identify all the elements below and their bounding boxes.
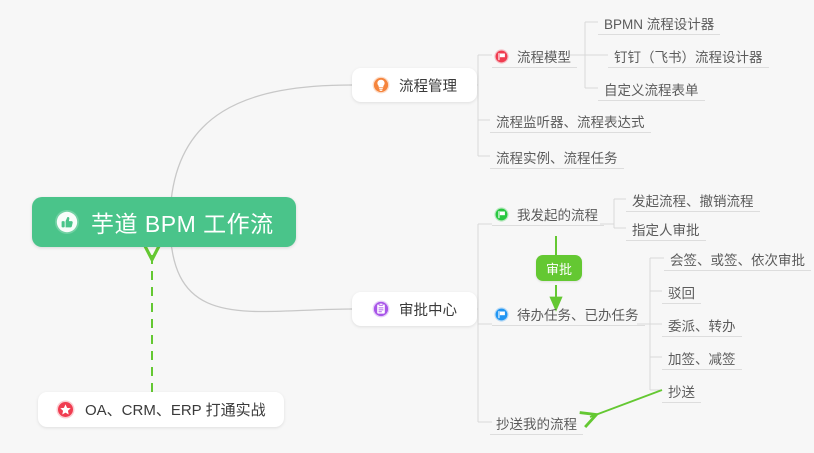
node-label: 待办任务、已办任务 (517, 309, 639, 323)
node-process-model[interactable]: 流程模型 (492, 42, 577, 68)
node-label: 自定义流程表单 (604, 84, 699, 98)
node-cc[interactable]: 抄送 (662, 377, 701, 403)
thumbs-up-icon (54, 209, 80, 235)
branch-approval-center[interactable]: 审批中心 (352, 292, 477, 326)
node-add-remove-sign[interactable]: 加签、减签 (662, 344, 742, 370)
node-label: 抄送 (668, 386, 695, 400)
star-icon (56, 400, 75, 419)
annotation-label: 审批 (546, 259, 572, 278)
node-label: 流程模型 (517, 51, 571, 65)
node-label: 钉钉（飞书）流程设计器 (614, 51, 763, 65)
node-dingtalk-feishu-designer[interactable]: 钉钉（飞书）流程设计器 (608, 42, 769, 68)
clipboard-icon (372, 300, 390, 318)
node-countersign-orsign-sequential[interactable]: 会签、或签、依次审批 (664, 245, 811, 271)
node-label: 我发起的流程 (517, 209, 598, 223)
node-label: BPMN 流程设计器 (604, 18, 714, 32)
branch-label: 审批中心 (399, 299, 457, 320)
node-todo-done-tasks[interactable]: 待办任务、已办任务 (492, 300, 645, 326)
node-label: 流程监听器、流程表达式 (496, 116, 645, 130)
node-delegate-transfer[interactable]: 委派、转办 (662, 311, 742, 337)
mindmap-canvas: 芋道 BPM 工作流 流程管理 流程模型 BPMN 流程设计器 (0, 0, 814, 453)
annotation-arrow-cc (590, 390, 662, 417)
node-label: 流程实例、流程任务 (496, 152, 618, 166)
node-my-initiated-process[interactable]: 我发起的流程 (492, 200, 604, 226)
branch-label: 流程管理 (399, 75, 457, 96)
flag-icon (494, 307, 509, 322)
node-label: 发起流程、撤销流程 (632, 195, 754, 209)
flag-icon (494, 49, 509, 64)
node-designated-approver[interactable]: 指定人审批 (626, 215, 706, 241)
branch-process-management[interactable]: 流程管理 (352, 68, 477, 102)
flag-icon (494, 207, 509, 222)
root-node[interactable]: 芋道 BPM 工作流 (32, 197, 296, 247)
node-label: 驳回 (668, 287, 695, 301)
node-label: 加签、减签 (668, 353, 736, 367)
node-label: 委派、转办 (668, 320, 736, 334)
node-process-listener-expression[interactable]: 流程监听器、流程表达式 (490, 107, 651, 133)
node-cc-to-me-process[interactable]: 抄送我的流程 (490, 409, 583, 435)
node-custom-process-form[interactable]: 自定义流程表单 (598, 75, 705, 101)
node-reject[interactable]: 驳回 (662, 278, 701, 304)
annotation-approval-pill: 审批 (536, 255, 582, 281)
node-label: 抄送我的流程 (496, 418, 577, 432)
root-label: 芋道 BPM 工作流 (91, 205, 274, 239)
node-label: OA、CRM、ERP 打通实战 (85, 399, 266, 420)
node-oa-crm-erp[interactable]: OA、CRM、ERP 打通实战 (38, 392, 284, 427)
node-label: 指定人审批 (632, 224, 700, 238)
node-process-instance-task[interactable]: 流程实例、流程任务 (490, 143, 624, 169)
lightbulb-icon (372, 76, 390, 94)
node-label: 会签、或签、依次审批 (670, 254, 805, 268)
node-bpmn-designer[interactable]: BPMN 流程设计器 (598, 9, 720, 35)
node-start-cancel-process[interactable]: 发起流程、撤销流程 (626, 186, 760, 212)
